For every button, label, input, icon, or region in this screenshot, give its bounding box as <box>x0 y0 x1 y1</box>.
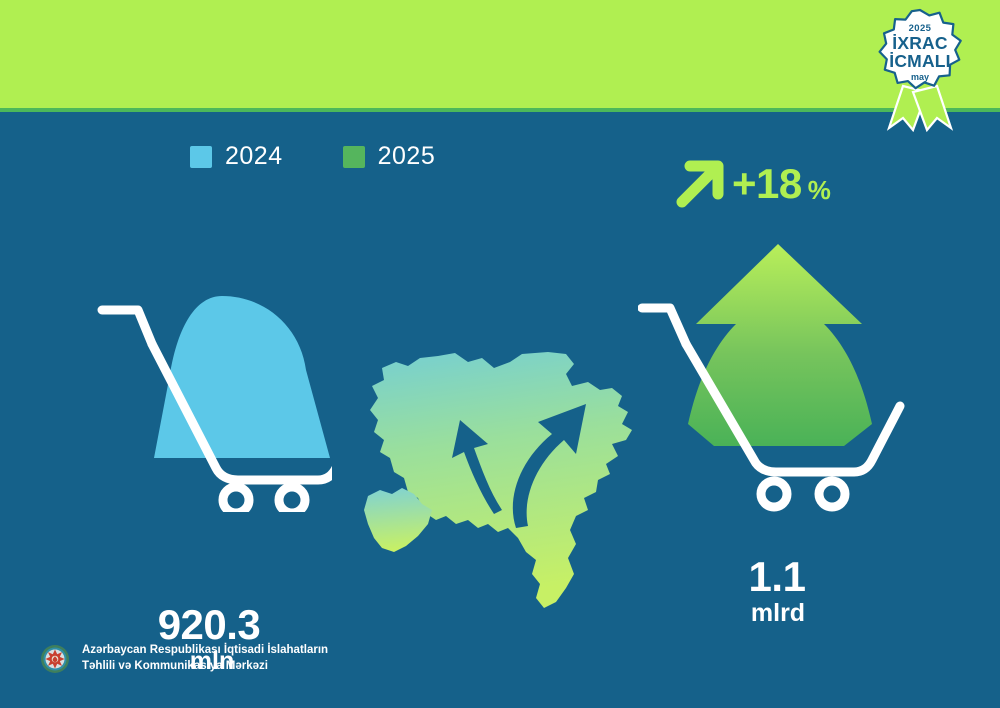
cart-2025-value-block: 1.1 mlrd <box>638 556 908 629</box>
cart-2025-unit: mlrd <box>648 598 908 629</box>
legend-item-2025: 2025 <box>343 142 436 171</box>
cart-2025-value: 1.1 <box>646 556 908 598</box>
shopping-cart-2024-icon <box>92 282 332 512</box>
footer-credit: Azərbaycan Respublikası İqtisadi İslahat… <box>40 643 328 675</box>
cart-2024-value: 920.3 <box>86 604 332 646</box>
cart-wheel-right-2024 <box>279 487 305 512</box>
cart-wheel-left-2025 <box>761 481 787 507</box>
map-mainland <box>370 352 632 608</box>
badge-seal-icon <box>855 2 985 132</box>
legend-label-2025: 2025 <box>378 142 436 171</box>
cart-wheel-left-2024 <box>223 487 249 512</box>
legend-label-2024: 2024 <box>225 142 283 171</box>
cart-handle-2025 <box>642 308 686 344</box>
azerbaijan-emblem-icon <box>40 644 70 674</box>
azerbaijan-map <box>360 352 660 612</box>
growth-unit: % <box>808 177 831 203</box>
shopping-cart-2025-icon <box>638 238 908 513</box>
footer-text-block: Azərbaycan Respublikası İqtisadi İslahat… <box>82 643 328 675</box>
growth-callout: +18 % <box>672 158 831 210</box>
chart-legend: 2024 2025 <box>190 142 435 171</box>
cart-fill-2025 <box>688 244 872 446</box>
arrow-up-right-icon <box>672 158 726 210</box>
cart-2024: 920.3 mln <box>92 282 332 517</box>
cart-handle-2024 <box>102 310 152 344</box>
cart-2025: 1.1 mlrd <box>638 238 908 518</box>
cart-wheel-right-2025 <box>819 481 845 507</box>
legend-swatch-2024 <box>190 146 212 168</box>
footer-line-2: Təhlili və Kommunikasiya Mərkəzi <box>82 659 328 675</box>
legend-item-2024: 2024 <box>190 142 283 171</box>
growth-value: +18 <box>732 163 802 205</box>
header-band <box>0 0 1000 111</box>
infographic-canvas: 2025-Cİ İLİN YANVAR-APREL AYLARI ƏRZİNDƏ… <box>0 0 1000 708</box>
issue-badge: 2025 İXRAC İCMALI may <box>855 2 985 132</box>
footer-line-1: Azərbaycan Respublikası İqtisadi İslahat… <box>82 643 328 659</box>
legend-swatch-2025 <box>343 146 365 168</box>
cart-fill-2024 <box>154 296 330 458</box>
header-divider-rule <box>0 108 1000 112</box>
